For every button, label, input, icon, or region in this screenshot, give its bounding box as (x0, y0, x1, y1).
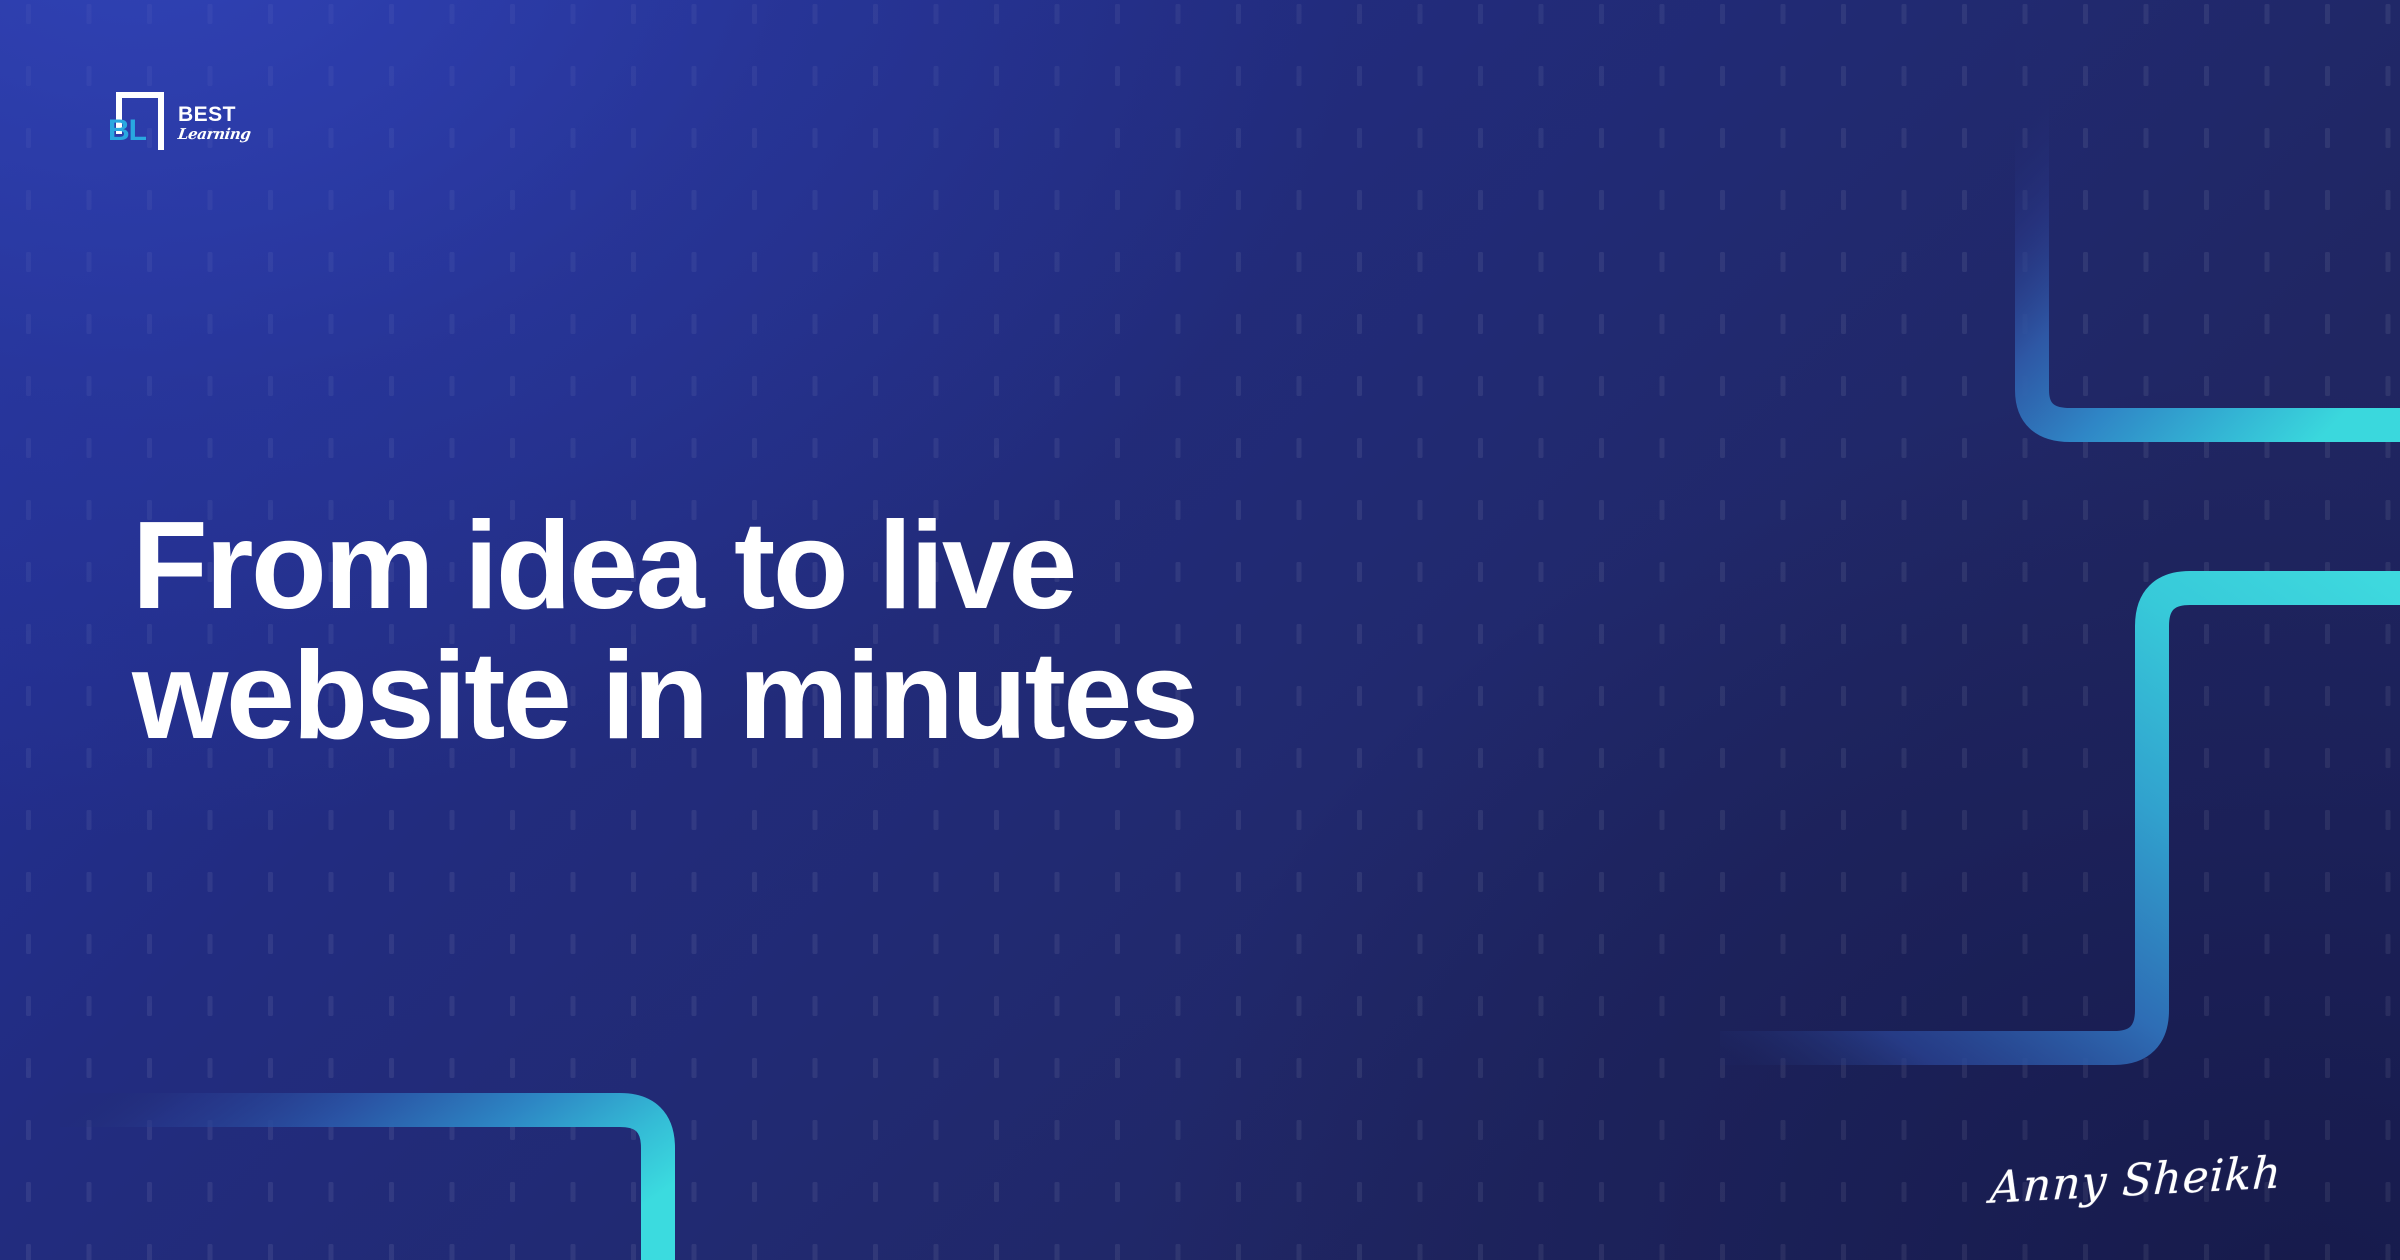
brand-logo[interactable]: BL BEST Learning (108, 92, 258, 154)
logo-initials: BL (108, 116, 146, 146)
slide-canvas: BL BEST Learning From idea to live websi… (0, 0, 2400, 1260)
logo-wordmark: BEST Learning (178, 104, 264, 142)
logo-brand-name: BEST (178, 104, 264, 125)
logo-brand-tagline: Learning (177, 127, 265, 142)
page-title: From idea to live website in minutes (132, 501, 1632, 761)
logo-mark-icon: BL (108, 92, 170, 144)
headline-line-1: From idea to live (132, 501, 1632, 631)
stroke-top-right (2032, 40, 2400, 425)
author-signature: Anny Sheikh (1989, 1147, 2283, 1213)
stroke-mid-right (1720, 588, 2400, 1048)
headline-line-2: website in minutes (132, 631, 1632, 761)
stroke-bottom-left (60, 1110, 658, 1260)
